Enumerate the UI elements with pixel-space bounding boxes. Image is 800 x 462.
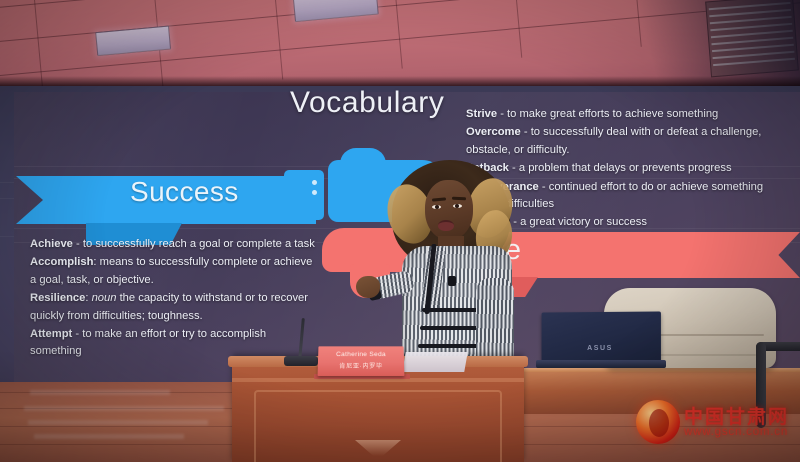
definition-text: a problem that delays or prevents progre… xyxy=(519,162,732,174)
slide-title: Vocabulary xyxy=(290,86,444,120)
definition-term: Attempt xyxy=(30,328,72,340)
definition-item: Resilience: noun the capacity to withsta… xyxy=(30,290,318,325)
microphone-base xyxy=(284,356,318,366)
definition-text: a great victory or success xyxy=(520,216,647,228)
definition-text: to make great efforts to achieve somethi… xyxy=(507,108,718,120)
definition-separator: - xyxy=(73,238,83,250)
nameplate-subtitle: 肯尼亚·内罗毕 xyxy=(318,361,405,370)
swirl-logo-icon xyxy=(636,400,680,444)
definition-item: Accomplish: means to successfully comple… xyxy=(30,254,318,289)
definition-term: Achieve xyxy=(30,238,73,250)
definition-separator: - xyxy=(72,328,82,340)
definition-term: Accomplish xyxy=(30,256,93,268)
desk-nameplate: Catherine Seda 肯尼亚·内罗毕 xyxy=(318,346,405,376)
definition-separator: - xyxy=(539,181,549,193)
definition-separator: - xyxy=(497,108,507,120)
success-banner-label: Success xyxy=(130,176,239,208)
left-definition-list: Achieve - to successfully reach a goal o… xyxy=(30,236,318,362)
watermark-site-name: 中国甘肃网 xyxy=(684,402,789,429)
ceiling xyxy=(0,0,800,92)
watermark-url: www.gscn.com.cn xyxy=(684,426,788,438)
paper-documents xyxy=(402,352,468,372)
definition-term: Strive xyxy=(466,108,497,120)
definition-item: Overcome - to successfully deal with or … xyxy=(466,124,766,159)
laptop[interactable]: ASUS xyxy=(540,312,660,368)
definition-part-of-speech: noun xyxy=(92,292,117,304)
definition-item: Strive - to make great efforts to achiev… xyxy=(466,106,766,123)
gesturing-hand xyxy=(356,276,380,298)
photo-scene: Vocabulary Success Failure Achieve - to … xyxy=(0,0,800,462)
definition-text: to successfully reach a goal or complete… xyxy=(83,238,315,250)
definition-term: Resilience xyxy=(30,292,85,304)
definition-item: Achieve - to successfully reach a goal o… xyxy=(30,236,318,253)
watermark: 中国甘肃网 www.gscn.com.cn xyxy=(636,398,796,452)
laptop-brand-logo: ASUS xyxy=(587,345,613,352)
nameplate-name: Catherine Seda xyxy=(318,351,404,358)
definition-separator: - xyxy=(521,126,531,138)
ceiling-light-panel xyxy=(293,0,379,22)
definition-term: Overcome xyxy=(466,126,521,138)
